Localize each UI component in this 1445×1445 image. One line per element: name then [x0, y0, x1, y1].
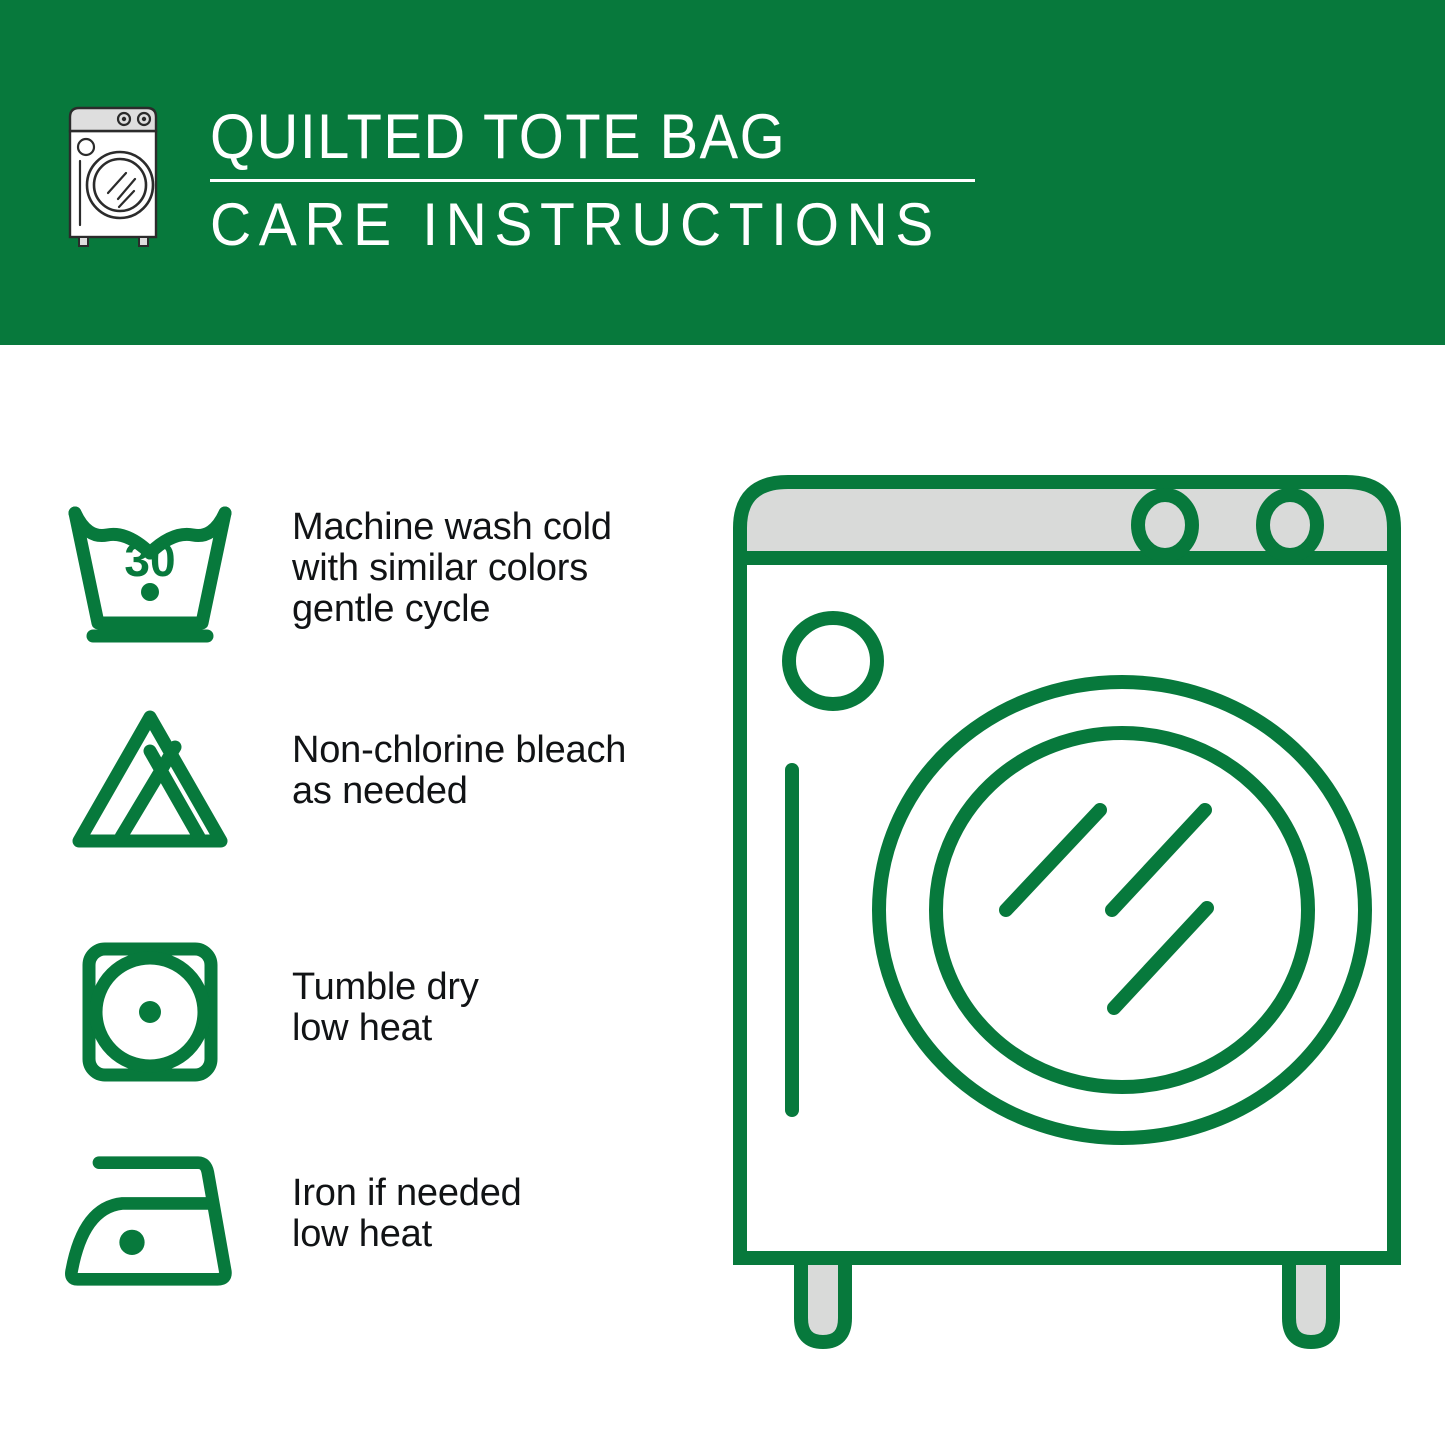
list-item-label: Iron if needed low heat	[292, 1173, 700, 1255]
title-divider	[210, 179, 975, 182]
wash-tub-30-gentle-icon: 30	[62, 495, 237, 645]
page-title: QUILTED TOTE BAG	[210, 104, 937, 170]
front-load-washing-machine-illustration	[722, 470, 1412, 1375]
page-subtitle: CARE INSTRUCTIONS	[210, 192, 961, 258]
iron-low-heat-icon	[62, 1145, 237, 1295]
care-instructions-page: QUILTED TOTE BAG CARE INSTRUCTIONS	[0, 0, 1445, 1445]
tumble-dry-low-icon	[62, 937, 237, 1087]
list-item-label: Non-chlorine bleach as needed	[292, 730, 700, 812]
wash-temperature-value: 30	[124, 534, 175, 586]
header-text-block: QUILTED TOTE BAG CARE INSTRUCTIONS	[210, 104, 1000, 258]
washing-machine-icon	[62, 103, 182, 248]
list-item: Iron if needed low heat	[0, 1145, 700, 1295]
list-item-label: Machine wash cold with similar colors ge…	[292, 507, 700, 630]
header-banner: QUILTED TOTE BAG CARE INSTRUCTIONS	[0, 0, 1445, 345]
list-item-label: Tumble dry low heat	[292, 967, 700, 1049]
instruction-list: 30 Machine wash cold with similar colors…	[0, 345, 700, 1445]
list-item: Tumble dry low heat	[0, 937, 700, 1087]
non-chlorine-bleach-triangle-icon	[62, 705, 237, 855]
list-item: 30 Machine wash cold with similar colors…	[0, 495, 700, 645]
list-item: Non-chlorine bleach as needed	[0, 705, 700, 855]
